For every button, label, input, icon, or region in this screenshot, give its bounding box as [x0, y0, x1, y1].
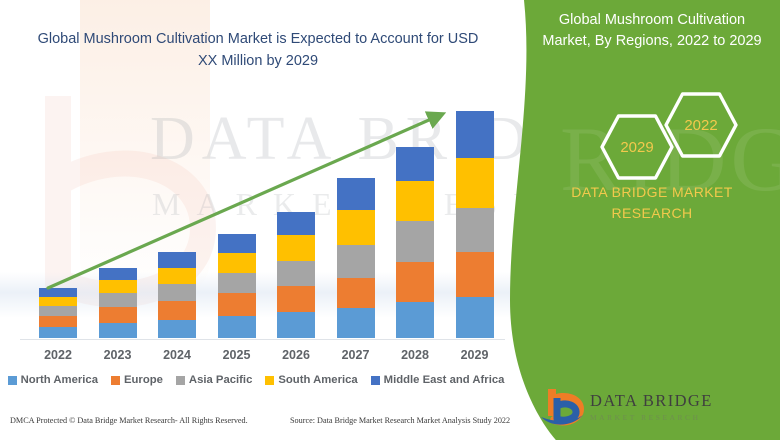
legend-item[interactable]: North America — [8, 374, 98, 386]
bar-segment — [39, 297, 77, 306]
legend-swatch-icon — [371, 376, 380, 385]
bar-segment — [337, 210, 375, 245]
footer: DMCA Protected © Data Bridge Market Rese… — [0, 414, 520, 436]
bar-segment — [456, 297, 494, 338]
hex-badge-far-label: 2022 — [664, 92, 738, 158]
bar-segment — [396, 262, 434, 302]
bar-segment — [218, 316, 256, 338]
bar-segment — [218, 234, 256, 253]
bar-segment — [277, 235, 315, 261]
legend-item[interactable]: Asia Pacific — [176, 374, 252, 386]
bar-segment — [337, 245, 375, 278]
bar-segment — [396, 147, 434, 181]
hex-badge-near-label: 2029 — [600, 114, 674, 180]
bar-2029 — [456, 111, 494, 338]
bar-2027 — [337, 178, 375, 338]
legend-label: Europe — [124, 374, 163, 386]
bar-segment — [277, 312, 315, 338]
bar-segment — [39, 316, 77, 327]
bar-segment — [158, 301, 196, 320]
bar-segment — [337, 308, 375, 338]
bar-segment — [218, 273, 256, 293]
legend-item[interactable]: Middle East and Africa — [371, 374, 505, 386]
bar-2024 — [158, 252, 196, 338]
footer-copyright: DMCA Protected © Data Bridge Market Rese… — [10, 416, 248, 425]
logo-mark-icon — [538, 386, 586, 428]
bar-segment — [456, 111, 494, 158]
bar-segment — [158, 320, 196, 338]
bar-segment — [218, 253, 256, 273]
bar-segment — [456, 158, 494, 208]
bar-segment — [396, 181, 434, 221]
hex-badge-group: 2022 2029 — [576, 92, 756, 178]
footer-source: Source: Data Bridge Market Research Mark… — [290, 416, 510, 425]
bar-2023 — [99, 268, 137, 338]
bar-segment — [158, 268, 196, 284]
bar-segment — [99, 280, 137, 293]
logo-title: DATA BRIDGE — [590, 391, 713, 411]
bar-segment — [277, 261, 315, 286]
legend-swatch-icon — [265, 376, 274, 385]
panel-brand-text: DATA BRIDGE MARKET RESEARCH — [534, 182, 770, 224]
bar-segment — [99, 293, 137, 307]
legend-label: Middle East and Africa — [384, 374, 505, 386]
hex-badge-near: 2029 — [600, 114, 674, 180]
legend-item[interactable]: Europe — [111, 374, 163, 386]
bar-2022 — [39, 288, 77, 338]
bar-segment — [39, 327, 77, 338]
legend-label: South America — [278, 374, 357, 386]
bar-2026 — [277, 212, 315, 338]
bar-segment — [158, 284, 196, 301]
bar-segment — [39, 306, 77, 316]
bar-segment — [218, 293, 256, 316]
bar-segment — [337, 278, 375, 308]
x-axis-label-2029: 2029 — [440, 348, 510, 362]
legend-swatch-icon — [8, 376, 17, 385]
bar-2028 — [396, 147, 434, 338]
bar-segment — [396, 302, 434, 338]
bar-2025 — [218, 234, 256, 338]
bar-segment — [99, 307, 137, 323]
panel-title: Global Mushroom Cultivation Market, By R… — [534, 10, 770, 52]
bar-segment — [277, 212, 315, 235]
data-bridge-logo: DATA BRIDGE MARKET RESEARCH — [538, 386, 738, 428]
bar-segment — [337, 178, 375, 210]
legend-swatch-icon — [176, 376, 185, 385]
x-axis-line — [20, 339, 505, 340]
bar-segment — [396, 221, 434, 262]
bar-segment — [456, 252, 494, 297]
legend-swatch-icon — [111, 376, 120, 385]
infographic-canvas: DATA BRIDGE MARKET RESEARCH Global Mushr… — [0, 0, 780, 440]
bar-segment — [158, 252, 196, 268]
bar-segment — [39, 288, 77, 297]
bar-segment — [99, 323, 137, 338]
legend-label: North America — [21, 374, 98, 386]
bar-segment — [277, 286, 315, 312]
logo-subtitle: MARKET RESEARCH — [590, 413, 713, 422]
svg-text:RIDG: RIDG — [560, 108, 780, 210]
legend-item[interactable]: South America — [265, 374, 357, 386]
chart-legend: North AmericaEuropeAsia PacificSouth Ame… — [0, 374, 512, 386]
bar-segment — [456, 208, 494, 252]
hex-badge-far: 2022 — [664, 92, 738, 158]
bar-segment — [99, 268, 137, 280]
legend-label: Asia Pacific — [189, 374, 252, 386]
